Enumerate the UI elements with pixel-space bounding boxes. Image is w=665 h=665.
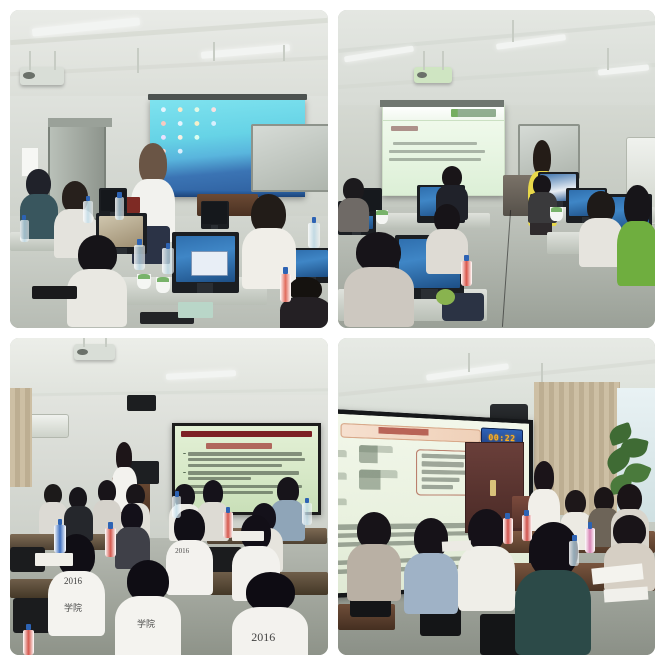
paper-cup [376,210,389,224]
photo-tile-top-right[interactable] [338,10,656,328]
water-bottle [83,201,93,223]
keyboard [32,286,76,299]
person-attendee [515,522,591,655]
chemical-structure [359,470,397,490]
water-bottle [172,496,182,518]
water-bottle [569,541,579,566]
screen-top-casing [148,94,307,100]
water-bottle [105,528,116,557]
wall-air-conditioner [26,414,69,438]
water-bottle [20,220,30,242]
water-bottle [115,197,125,219]
paper-cup [137,274,151,290]
paper-cup [550,207,563,221]
projector-mount [54,51,56,70]
chemical-structure [359,445,392,463]
chemical-structure [338,472,348,490]
water-bottle [503,518,513,543]
light-rod [213,42,215,61]
monitor-window [191,251,228,275]
shirt-print-2016: 2016 [251,630,302,655]
light-rod [283,45,285,61]
projector-mount [105,338,107,348]
light-rod [607,48,609,70]
projector-mount [423,51,425,70]
institution-logo [451,109,497,117]
paper-sheet [442,540,471,551]
shirt-print-chinese: 学院 [64,601,102,630]
cabinet-handle [490,480,496,496]
water-bottle [302,503,312,525]
person-student [67,235,127,327]
slide-bullet-line [188,471,299,474]
water-bottle [308,223,319,248]
chemical-structure [338,449,348,468]
light-rod [137,48,139,73]
photo-tile-bottom-right[interactable]: 00:22 [338,338,656,656]
classroom-scene-lecture-hall: 2016 2016 学院 学院 2016 [10,338,328,656]
light-rod [512,20,514,42]
water-bottle [134,245,145,270]
slide-text-line [422,485,453,490]
wall-speaker [127,395,156,411]
window-curtain [10,388,32,486]
ceiling [10,338,328,395]
ceiling-projector [20,67,64,84]
notebook [35,553,73,566]
slide-header-banner [181,431,312,438]
light-rod [468,353,470,372]
water-bottle [461,261,472,286]
water-bottle [585,528,595,553]
slide-body-line [389,150,486,153]
projector-mount [83,338,85,348]
person-attendee [347,512,401,601]
projector-mount [442,51,444,70]
slide-text-line [422,469,466,474]
door-frame [48,118,112,128]
floor-cable [502,210,511,327]
shirt-print-chinese: 学院 [137,617,175,646]
ceiling-projector [74,344,115,360]
person-student [344,232,414,327]
paper-sheet [604,587,649,603]
person-student [64,487,93,541]
slide-title-text [206,443,272,449]
slide-body-line [393,142,477,145]
water-bottle [280,274,291,303]
person-attendee [404,518,458,613]
photo-tile-bottom-left[interactable]: 2016 2016 学院 学院 2016 [10,338,328,656]
ceiling-projector [414,67,452,83]
person-student [617,185,655,287]
screen-top-casing [380,100,504,106]
slide-title-text [391,126,418,131]
notebook [232,531,264,541]
desktop-monitor [201,201,230,230]
water-bottle [23,630,34,655]
chemical-structure [338,498,348,516]
whiteboard [251,124,327,192]
person-student [338,178,370,232]
notebook [178,302,213,318]
water-bottle [54,525,65,554]
slide-body-line [389,158,481,161]
photo-collage: 2016 2016 学院 学院 2016 [0,0,665,665]
classroom-scene-lab-presentation [338,10,656,328]
projector-mount [29,51,31,70]
classroom-scene-seminar-room: 00:22 [338,338,656,656]
photo-tile-top-left[interactable] [10,10,328,328]
paper-cup [156,277,170,293]
slide-bullet-line [188,458,305,461]
water-bottle [522,515,532,540]
water-bottle [162,248,173,273]
slide-text-line [422,477,459,482]
slide-bullet-line [188,452,302,455]
slide-bullet-line [188,464,282,467]
classroom-scene-computer-lab [10,10,328,328]
